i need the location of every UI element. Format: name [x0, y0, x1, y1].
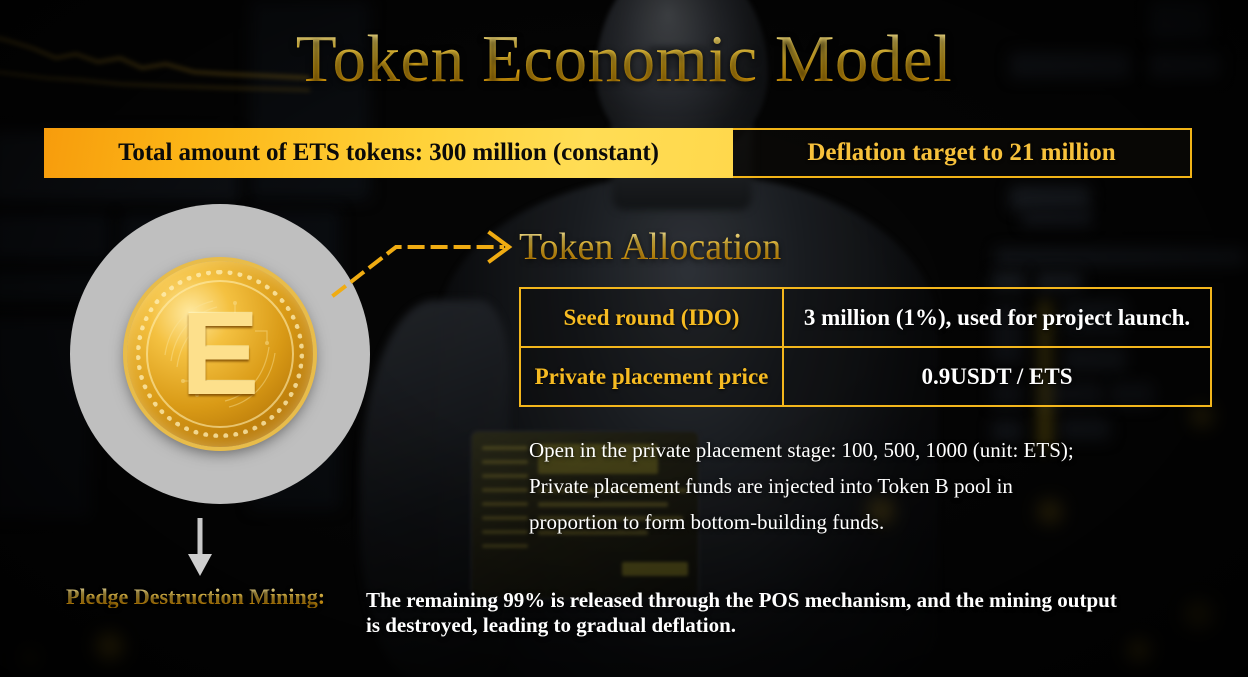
token-allocation-table: Seed round (IDO) 3 million (1%), used fo…: [519, 287, 1212, 407]
dashed-arrow-icon: [330, 215, 540, 300]
banner-total-supply: Total amount of ETS tokens: 300 million …: [44, 128, 733, 178]
row-label-seed-round: Seed round (IDO): [520, 288, 783, 347]
coin-token-symbol: E: [127, 261, 313, 447]
note-line-2: Private placement funds are injected int…: [529, 468, 1229, 504]
pledge-line-2: is destroyed, leading to gradual deflati…: [366, 613, 1226, 638]
row-value-seed-round: 3 million (1%), used for project launch.: [783, 288, 1211, 347]
page-title: Token Economic Model: [0, 26, 1248, 93]
pledge-destruction-mining-text: The remaining 99% is released through th…: [366, 588, 1226, 638]
summary-banner: Total amount of ETS tokens: 300 million …: [44, 128, 1192, 178]
down-arrow-icon: [183, 518, 217, 580]
note-line-1: Open in the private placement stage: 100…: [529, 432, 1229, 468]
private-placement-note: Open in the private placement stage: 100…: [529, 432, 1229, 540]
row-value-private-placement-price: 0.9USDT / ETS: [783, 347, 1211, 406]
pledge-destruction-mining-label: Pledge Destruction Mining:: [66, 586, 325, 608]
token-allocation-heading: Token Allocation: [519, 228, 781, 266]
pledge-line-1: The remaining 99% is released through th…: [366, 588, 1226, 613]
note-line-3: proportion to form bottom-building funds…: [529, 504, 1229, 540]
gold-coin: E: [127, 261, 313, 447]
table-row: Private placement price 0.9USDT / ETS: [520, 347, 1211, 406]
row-label-private-placement-price: Private placement price: [520, 347, 783, 406]
token-coin-graphic: E: [70, 204, 370, 504]
banner-deflation-target: Deflation target to 21 million: [733, 128, 1192, 178]
table-row: Seed round (IDO) 3 million (1%), used fo…: [520, 288, 1211, 347]
